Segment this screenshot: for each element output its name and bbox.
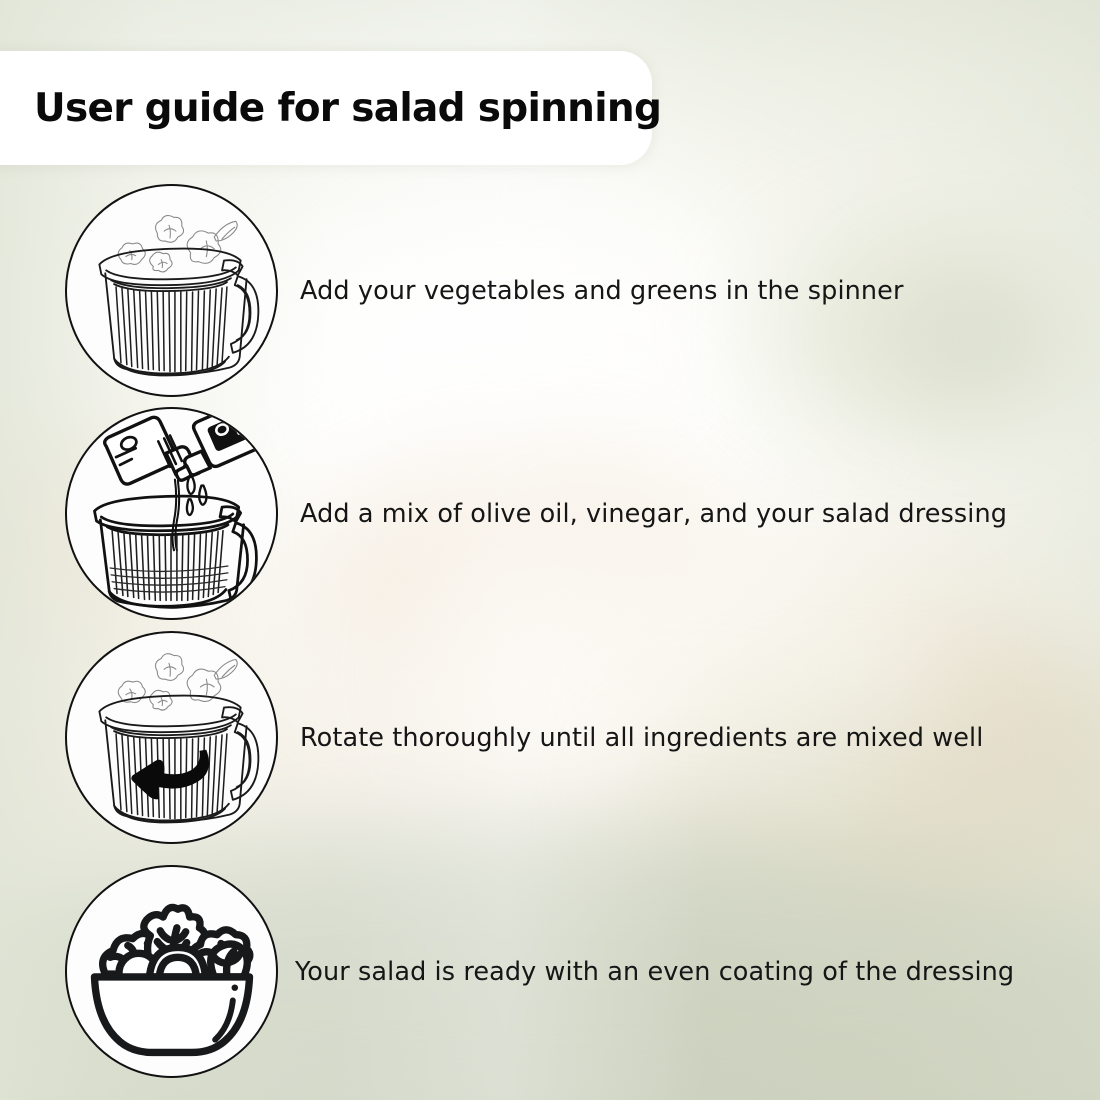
step-item-1: Add your vegetables and greens in the sp… [0, 183, 1100, 398]
step-label-1: Add your vegetables and greens in the sp… [300, 276, 904, 306]
salad-bowl-icon [65, 865, 278, 1078]
step-label-3: Rotate thoroughly until all ingredients … [300, 723, 983, 753]
oil-and-vinegar-bottles-pouring-icon [65, 407, 278, 620]
page-title: User guide for salad spinning [34, 86, 661, 131]
step-item-2: Add a mix of olive oil, vinegar, and you… [0, 406, 1100, 621]
infographic-page: User guide for salad spinning [0, 0, 1100, 1100]
step-label-2: Add a mix of olive oil, vinegar, and you… [300, 499, 1007, 529]
salad-spinner-with-greens-icon [65, 184, 278, 397]
salad-spinner-rotate-arrow-icon [65, 631, 278, 844]
step-item-4: Your salad is ready with an even coating… [0, 864, 1100, 1079]
title-card: User guide for salad spinning [0, 51, 652, 165]
step-label-4: Your salad is ready with an even coating… [295, 957, 1014, 987]
step-item-3: Rotate thoroughly until all ingredients … [0, 630, 1100, 845]
